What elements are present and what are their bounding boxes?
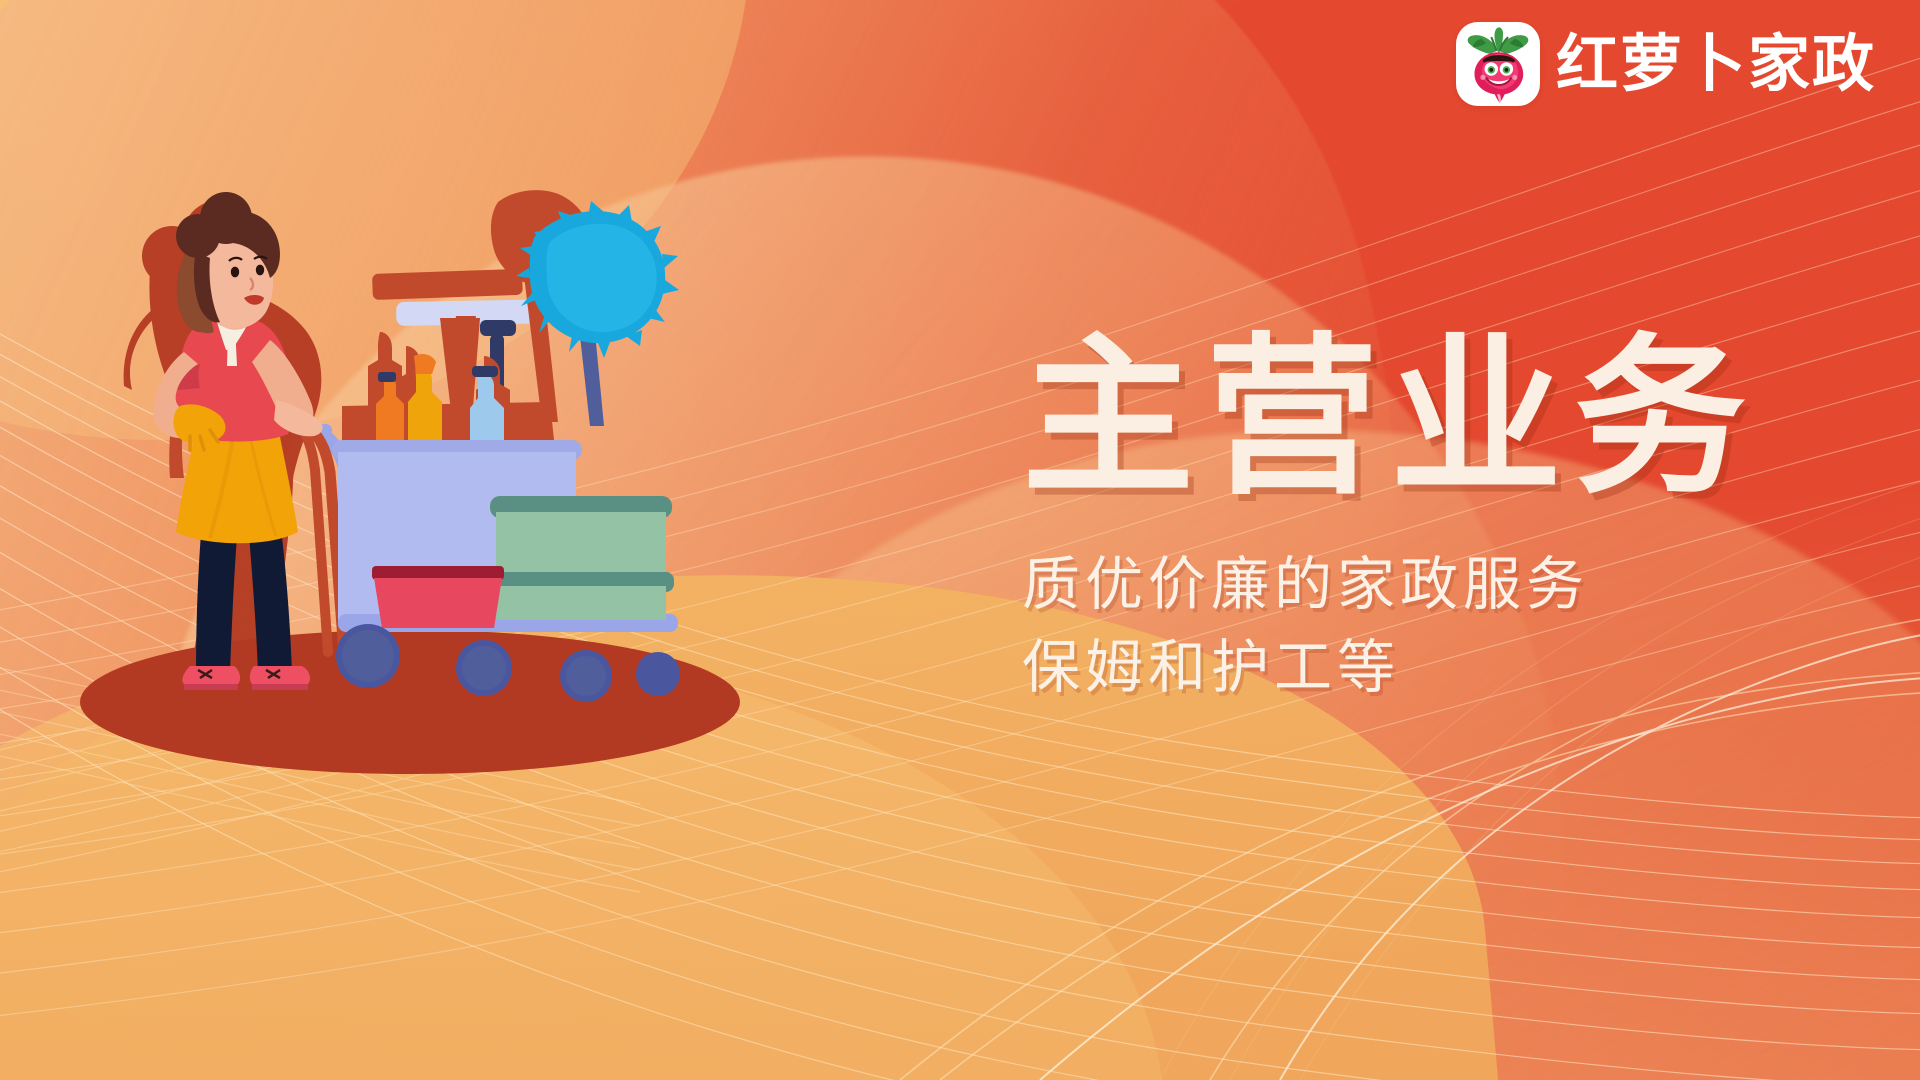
housekeeper-illustration [80, 190, 820, 890]
pink-bucket-icon [372, 566, 504, 628]
subtitle-line-2: 保姆和护工等 [1022, 626, 1758, 708]
subtitle-line-1: 质优价廉的家政服务 [1022, 543, 1758, 625]
cleaning-cart-icon [292, 190, 680, 702]
slide-copy: 主营业务 质优价廉的家政服务 保姆和护工等 [1022, 330, 1758, 708]
green-bucket-icon [488, 496, 674, 620]
brand-logo[interactable]: 红萝卜家政 [1456, 22, 1876, 106]
radish-icon [1456, 22, 1540, 106]
page-title: 主营业务 [1022, 330, 1758, 505]
slide-canvas: 主营业务 质优价廉的家政服务 保姆和护工等 [0, 0, 1920, 1080]
slide-subtitle: 质优价廉的家政服务 保姆和护工等 [1022, 543, 1758, 708]
brand-name: 红萝卜家政 [1556, 33, 1876, 95]
ground-shadow [80, 630, 740, 774]
